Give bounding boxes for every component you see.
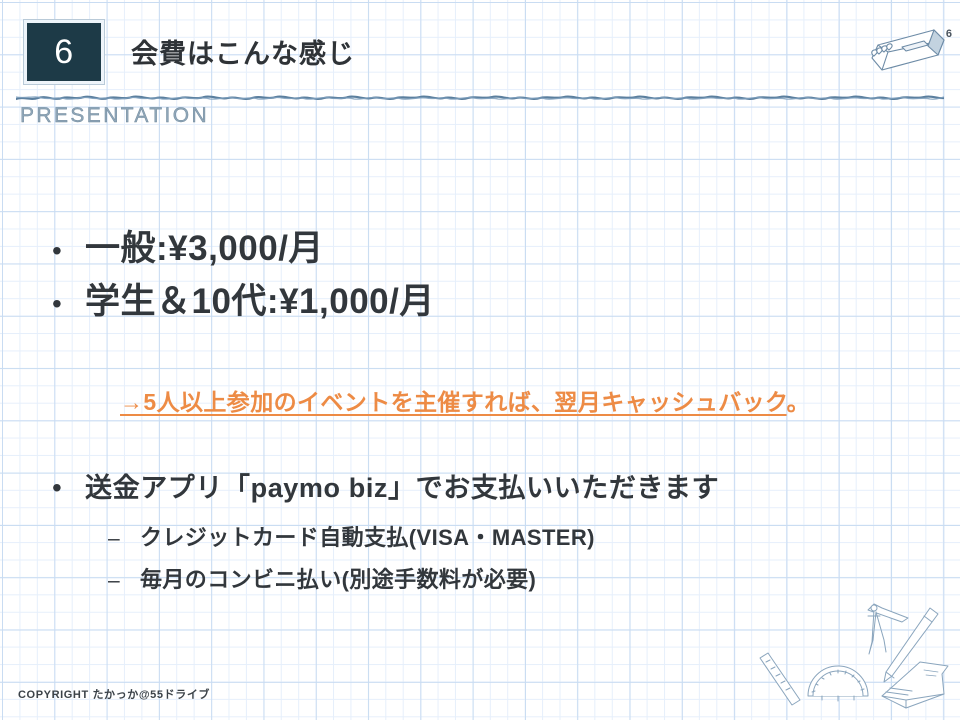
bullet-item-student: • 学生＆10代:¥1,000/月 (52, 273, 435, 324)
notebook-stack-icon (858, 18, 954, 82)
slide: 6 会費はこんな感じ PRESENTATION (0, 0, 960, 720)
dash-marker-icon: – (108, 570, 140, 591)
slide-body: • 一般:¥3,000/月 • 学生＆10代:¥1,000/月 →5人以上参加の… (0, 150, 960, 670)
copyright-owner: たかっか@55ドライブ (92, 689, 210, 701)
slide-header: 6 会費はこんな感じ PRESENTATION (0, 0, 960, 132)
copyright-label: COPYRIGHT (18, 689, 89, 701)
sub-bullet-text: 毎月のコンビニ払い(別途手数料が必要) (140, 562, 536, 594)
cashback-note-underlined: →5人以上参加のイベントを主催すれば、翌月キャッシュバック (120, 389, 787, 415)
sub-bullet-convenience-store: – 毎月のコンビニ払い(別途手数料が必要) (108, 562, 536, 594)
wavy-divider-icon (16, 93, 944, 103)
bullet-item-payment-app: • 送金アプリ「paymo biz」でお支払いいただきます (52, 466, 719, 505)
ruler-icon (760, 653, 800, 705)
bullet-text: 一般:¥3,000/月 (85, 220, 324, 271)
bullet-marker-icon: • (52, 290, 85, 318)
stationery-svg (752, 596, 956, 714)
cashback-note: →5人以上参加のイベントを主催すれば、翌月キャッシュバック。 (120, 383, 810, 417)
compass-icon (868, 604, 908, 654)
footer-copyright: COPYRIGHT たかっか@55ドライブ (18, 686, 210, 702)
page-title: 会費はこんな感じ (131, 32, 355, 71)
sub-bullet-text: クレジットカード自動支払(VISA・MASTER) (140, 520, 595, 552)
protractor-icon (808, 666, 868, 701)
stationery-illustration (752, 596, 956, 714)
cashback-note-tail: 。 (787, 389, 810, 415)
bullet-text: 送金アプリ「paymo biz」でお支払いいただきます (85, 466, 719, 505)
bullet-marker-icon: • (52, 474, 85, 502)
bullet-item-general: • 一般:¥3,000/月 (52, 220, 324, 271)
notebook-stack-svg (858, 18, 954, 82)
dash-marker-icon: – (108, 528, 140, 549)
wavy-divider (16, 90, 944, 100)
sub-bullet-credit-card: – クレジットカード自動支払(VISA・MASTER) (108, 520, 595, 552)
page-number: 6 (946, 28, 952, 40)
bullet-text: 学生＆10代:¥1,000/月 (85, 273, 435, 324)
slide-number-box: 6 (24, 20, 104, 84)
kicker-label: PRESENTATION (20, 104, 209, 128)
bullet-marker-icon: • (52, 237, 85, 265)
slide-number-text: 6 (54, 35, 73, 69)
